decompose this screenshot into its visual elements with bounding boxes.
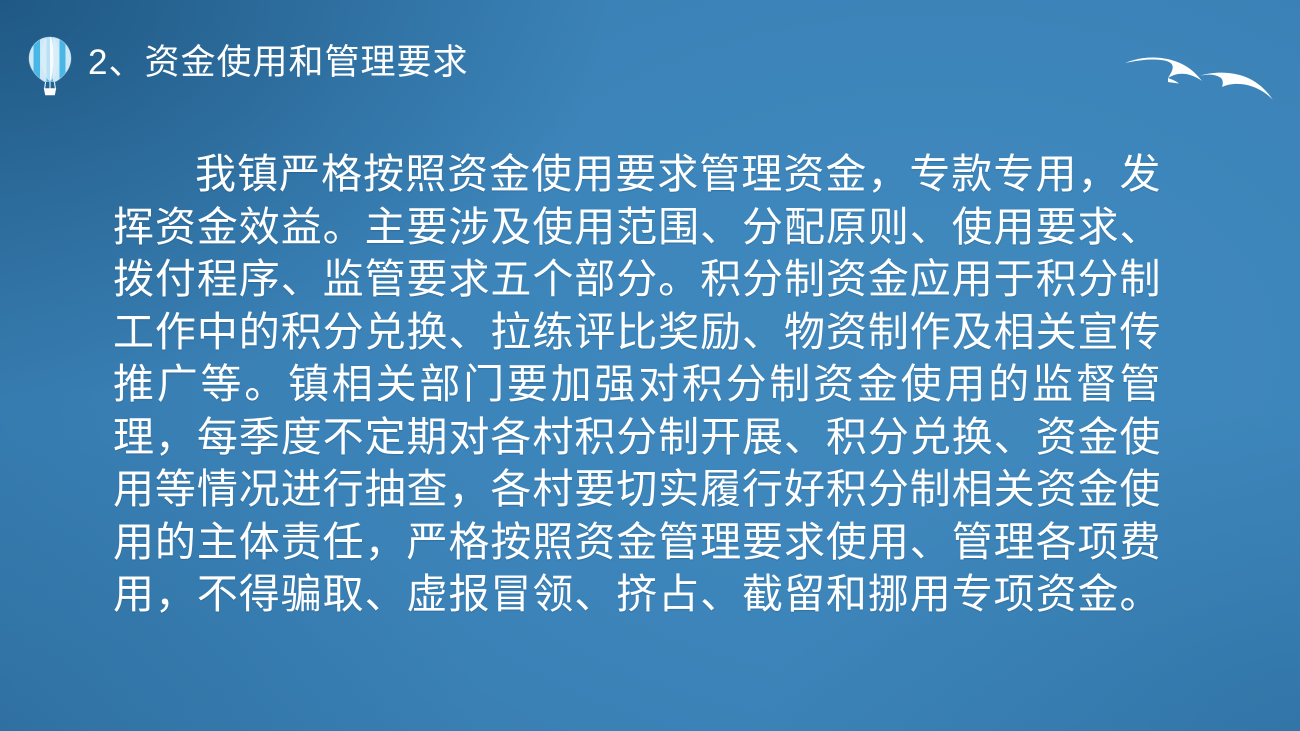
presentation-slide: 2、资金使用和管理要求 我镇严格按照资金使用要求管理资金，专款专用，发挥资金效益… xyxy=(0,0,1300,731)
slide-header: 2、资金使用和管理要求 xyxy=(0,0,1300,120)
body-paragraph: 我镇严格按照资金使用要求管理资金，专款专用，发挥资金效益。主要涉及使用范围、分配… xyxy=(113,148,1161,673)
hot-air-balloon-icon xyxy=(27,36,73,96)
flying-bird-icon xyxy=(1122,38,1284,102)
page-title: 2、资金使用和管理要求 xyxy=(88,39,468,87)
